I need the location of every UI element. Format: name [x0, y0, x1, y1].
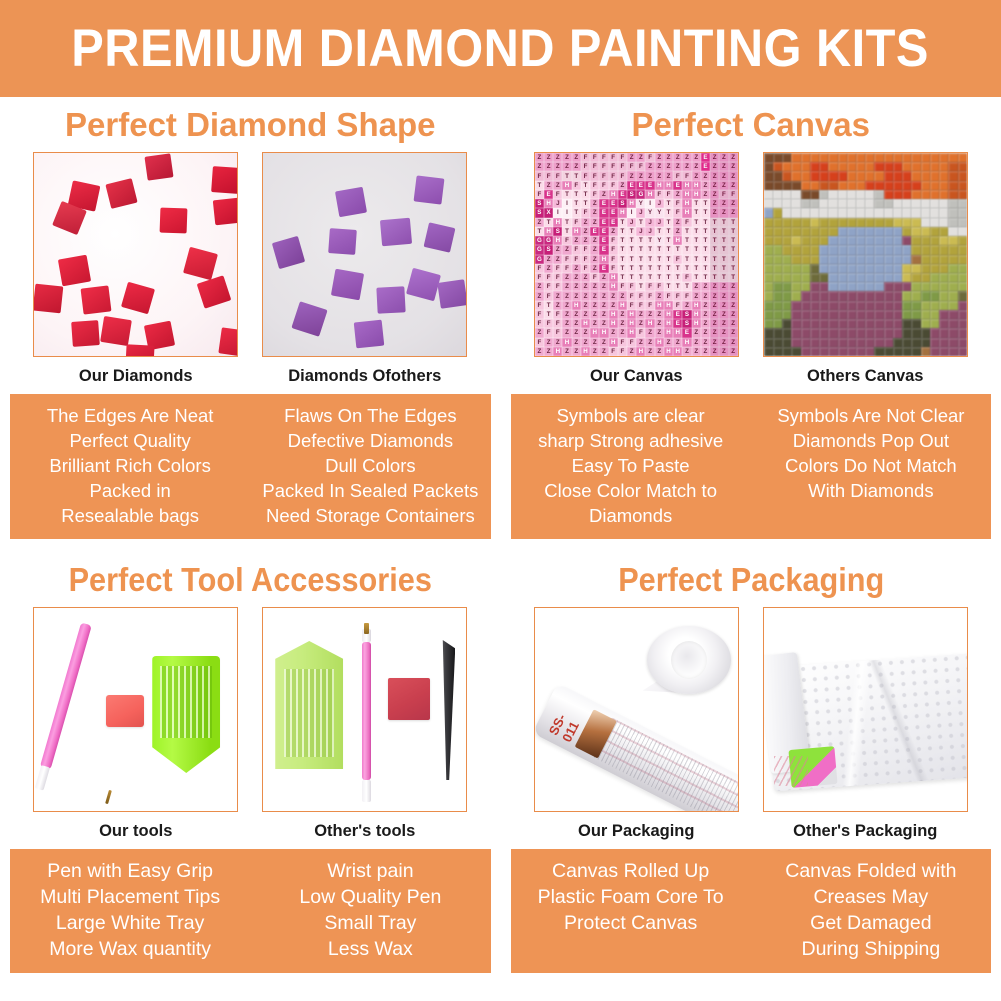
caption-our-diamonds: Our Diamonds — [33, 357, 238, 394]
panel-line: Flaws On The Edges — [254, 403, 486, 428]
panel-line: Canvas Rolled Up — [515, 858, 747, 884]
image-others-canvas — [763, 152, 968, 357]
panel-line: Packed In Sealed Packets — [254, 478, 486, 503]
canvas-tube-icon: SS-011 — [534, 683, 739, 812]
row-1-panels: The Edges Are Neat Perfect Quality Brill… — [0, 394, 1001, 539]
caption-others-tools: Other's tools — [262, 812, 467, 849]
row-2-images: Our tools Other's tools — [0, 607, 1001, 849]
panel-packaging: Canvas Rolled Up Plastic Foam Core To Pr… — [511, 849, 992, 973]
blurry-canvas-artwork — [764, 153, 967, 356]
purple-diamonds-artwork — [263, 153, 466, 356]
row-2-titles: Perfect Tool Accessories Perfect Packagi… — [0, 552, 1001, 607]
panel-theirs-packaging: Canvas Folded with Creases May Get Damag… — [751, 858, 991, 962]
caption-others-diamonds: Diamonds Ofothers — [262, 357, 467, 394]
panel-line: Canvas Folded with — [755, 858, 987, 884]
image-our-diamonds — [33, 152, 238, 357]
panel-theirs-canvas: Symbols Are Not Clear Diamonds Pop Out C… — [751, 403, 991, 528]
green-tray-icon — [152, 656, 220, 773]
card-our-canvas: ZZZZZFFFFFZZFZZZZZEZZZZZZZZFFFFFFFZZZZZZ… — [534, 152, 739, 394]
caption-our-canvas: Our Canvas — [534, 357, 739, 394]
panel-line: Defective Diamonds — [254, 428, 486, 453]
section-title-diamond-shape: Perfect Diamond Shape — [0, 97, 501, 152]
panel-line: Wrist pain — [254, 858, 486, 884]
panel-line: Easy To Paste — [515, 453, 747, 478]
red-diamonds-artwork — [34, 153, 237, 356]
panel-line: Protect Canvas — [515, 910, 747, 936]
caption-others-canvas: Others Canvas — [763, 357, 968, 394]
panel-line: Diamonds — [515, 503, 747, 528]
section-title-tool-accessories: Perfect Tool Accessories — [18, 552, 483, 607]
panel-theirs-diamond-shape: Flaws On The Edges Defective Diamonds Du… — [250, 403, 490, 528]
image-others-tools — [262, 607, 467, 812]
card-others-canvas: Others Canvas — [763, 152, 968, 394]
pen-tip-icon — [364, 623, 369, 634]
row-1-images: Our Diamonds — [0, 152, 1001, 394]
image-others-packaging — [763, 607, 968, 812]
panel-ours-diamond-shape: The Edges Are Neat Perfect Quality Brill… — [10, 403, 250, 528]
wax-square-icon — [106, 695, 144, 727]
pen-tip-icon — [105, 790, 112, 804]
panel-line: During Shipping — [755, 936, 987, 962]
card-others-packaging: Other's Packaging — [763, 607, 968, 849]
image-our-canvas: ZZZZZFFFFFZZFZZZZZEZZZZZZZZFFFFFFFZZZZZZ… — [534, 152, 739, 357]
panel-diamond-shape: The Edges Are Neat Perfect Quality Brill… — [10, 394, 491, 539]
card-others-diamonds: Diamonds Ofothers — [262, 152, 467, 394]
image-our-packaging: SS-011 — [534, 607, 739, 812]
caption-others-packaging: Other's Packaging — [763, 812, 968, 849]
panel-line: Dull Colors — [254, 453, 486, 478]
card-our-tools: Our tools — [33, 607, 238, 849]
panel-line: sharp Strong adhesive — [515, 428, 747, 453]
card-others-tools: Other's tools — [262, 607, 467, 849]
panel-ours-tools: Pen with Easy Grip Multi Placement Tips … — [10, 858, 250, 962]
our-tools-artwork — [34, 608, 237, 811]
pink-pen-icon — [362, 642, 371, 780]
tweezers-icon — [439, 640, 455, 780]
panel-line: Need Storage Containers — [254, 503, 486, 528]
caption-our-packaging: Our Packaging — [534, 812, 739, 849]
pink-pen-icon — [40, 622, 92, 769]
foam-cap-icon — [647, 626, 731, 694]
panel-ours-canvas: Symbols are clear sharp Strong adhesive … — [511, 403, 751, 528]
panel-line: Creases May — [755, 884, 987, 910]
panel-ours-packaging: Canvas Rolled Up Plastic Foam Core To Pr… — [511, 858, 751, 962]
row-2-panels: Pen with Easy Grip Multi Placement Tips … — [0, 849, 1001, 973]
panel-line: Packed in — [14, 478, 246, 503]
panel-line: Get Damaged — [755, 910, 987, 936]
panel-line: Multi Placement Tips — [14, 884, 246, 910]
panel-line: Resealable bags — [14, 503, 246, 528]
panel-line: Brilliant Rich Colors — [14, 453, 246, 478]
panel-line: Low Quality Pen — [254, 884, 486, 910]
others-tools-artwork — [263, 608, 466, 811]
panel-theirs-tools: Wrist pain Low Quality Pen Small Tray Le… — [250, 858, 490, 962]
symbol-canvas-artwork: ZZZZZFFFFFZZFZZZZZEZZZZZZZZFFFFFFFZZZZZZ… — [535, 153, 738, 356]
page-title: PREMIUM DIAMOND PAINTING KITS — [72, 18, 930, 79]
panel-line: Pen with Easy Grip — [14, 858, 246, 884]
section-title-canvas: Perfect Canvas — [501, 97, 1001, 152]
panel-line: Colors Do Not Match — [755, 453, 987, 478]
panel-canvas: Symbols are clear sharp Strong adhesive … — [511, 394, 992, 539]
others-packaging-artwork — [764, 608, 967, 811]
panel-line: Less Wax — [254, 936, 486, 962]
panel-line: Small Tray — [254, 910, 486, 936]
image-others-diamonds — [262, 152, 467, 357]
image-our-tools — [33, 607, 238, 812]
panel-tool-accessories: Pen with Easy Grip Multi Placement Tips … — [10, 849, 491, 973]
panel-line: Symbols Are Not Clear — [755, 403, 987, 428]
wax-square-icon — [388, 678, 430, 720]
caption-our-tools: Our tools — [33, 812, 238, 849]
panel-line: Large White Tray — [14, 910, 246, 936]
panel-line: Close Color Match to — [515, 478, 747, 503]
card-our-packaging: SS-011 Our Packaging — [534, 607, 739, 849]
panel-line: Diamonds Pop Out — [755, 428, 987, 453]
section-title-packaging: Perfect Packaging — [518, 552, 983, 607]
page-header-banner: PREMIUM DIAMOND PAINTING KITS — [0, 0, 1001, 97]
light-green-tray-icon — [275, 641, 343, 769]
our-packaging-artwork: SS-011 — [535, 608, 738, 811]
panel-line: More Wax quantity — [14, 936, 246, 962]
panel-line: The Edges Are Neat — [14, 403, 246, 428]
card-our-diamonds: Our Diamonds — [33, 152, 238, 394]
row-1-titles: Perfect Diamond Shape Perfect Canvas — [0, 97, 1001, 152]
tape-icon — [774, 756, 808, 786]
panel-line: Perfect Quality — [14, 428, 246, 453]
infographic-page: PREMIUM DIAMOND PAINTING KITS Perfect Di… — [0, 0, 1001, 1001]
panel-line: Symbols are clear — [515, 403, 747, 428]
panel-line: Plastic Foam Core To — [515, 884, 747, 910]
panel-line: With Diamonds — [755, 478, 987, 503]
